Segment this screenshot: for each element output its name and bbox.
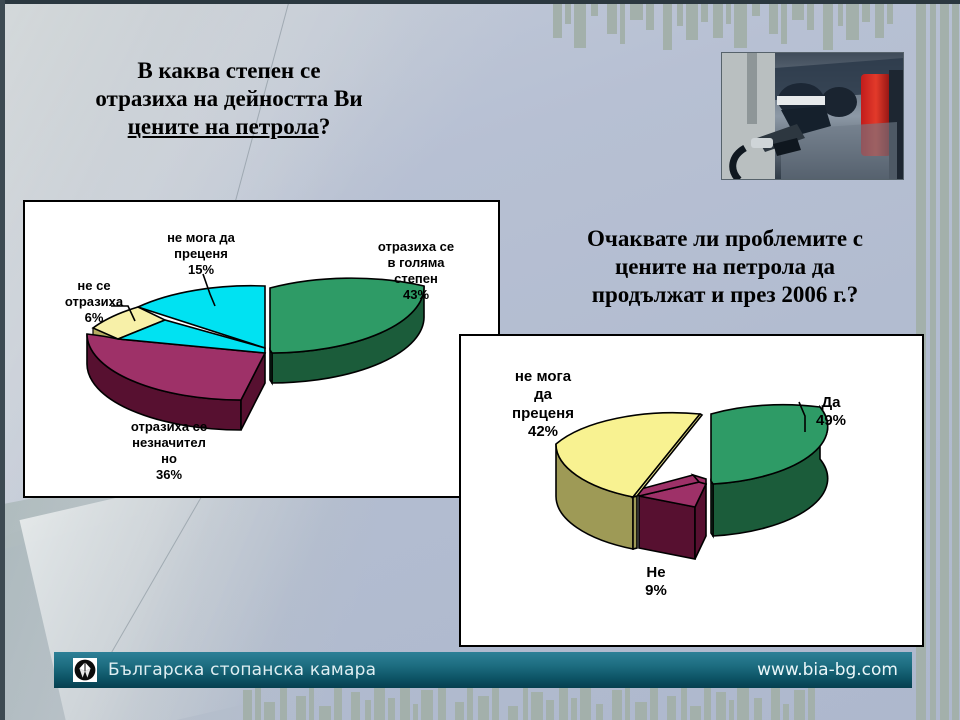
decorative-bar	[365, 700, 371, 720]
chart-2-label-2: не мога да преценя 42%	[491, 368, 595, 442]
decorative-bar	[690, 706, 701, 720]
decorative-bar	[280, 684, 287, 720]
decorative-bar	[713, 0, 723, 38]
decorative-bar	[296, 696, 306, 720]
decorative-bar	[635, 702, 647, 720]
decorative-bar	[794, 690, 805, 720]
decorative-bar	[508, 706, 518, 720]
question-1-line-1: В каква степен се	[34, 57, 424, 85]
slide-top-border	[0, 0, 960, 4]
decorative-bar	[771, 686, 780, 720]
decorative-bar	[400, 686, 410, 720]
top-decorative-bars	[548, 0, 960, 46]
footer-website-url[interactable]: www.bia-bg.com	[757, 660, 898, 680]
chart-1-label-2: не мога да преценя 15%	[145, 230, 257, 278]
decorative-bar	[846, 0, 859, 40]
question-1-line-2: отразиха на дейността Ви	[34, 85, 424, 113]
decorative-bar	[612, 690, 622, 720]
decorative-bar	[580, 686, 591, 720]
pie-chart-2[interactable]: Да 49% Не 9% не мога да преценя 42%	[459, 334, 924, 647]
decorative-bar	[571, 698, 577, 720]
bia-diamond-emblem	[74, 659, 96, 681]
edge-stripe	[930, 0, 936, 720]
decorative-bar	[754, 698, 762, 720]
decorative-bar	[596, 704, 603, 720]
chart-1-label-3: не се отразиха 6%	[51, 278, 137, 326]
decorative-bar	[783, 704, 789, 720]
edge-stripe	[952, 0, 959, 720]
bia-logo-icon	[73, 658, 97, 682]
decorative-bar	[546, 700, 554, 720]
question-1-underlined: цените на петрола	[128, 114, 319, 139]
question-2-line-3: продължат и през 2006 г.?	[520, 281, 930, 309]
chart-1-label-1: отразиха се незначител но 36%	[111, 419, 227, 483]
decorative-bar	[686, 0, 698, 40]
decorative-bar	[388, 698, 395, 720]
decorative-bar	[646, 0, 654, 30]
decorative-bar	[455, 702, 464, 720]
chart-1-label-0: отразиха се в голяма степен 43%	[361, 239, 471, 303]
decorative-bar	[667, 696, 676, 720]
question-1-line-3: цените на петрола?	[34, 113, 424, 141]
decorative-bar	[607, 0, 617, 34]
question-1-qmark: ?	[319, 114, 331, 139]
decorative-bar	[781, 0, 787, 44]
decorative-bar	[734, 0, 747, 48]
decorative-bar	[467, 684, 473, 720]
decorative-bar	[769, 0, 778, 34]
decorative-bar	[243, 690, 252, 720]
footer-bar: Българска стопанска камара www.bia-bg.co…	[54, 652, 912, 688]
slide-canvas: В каква степен се отразиха на дейността …	[0, 0, 960, 720]
decorative-bar	[716, 692, 726, 720]
decorative-bar	[531, 692, 543, 720]
question-2-line-1: Очаквате ли проблемите с	[520, 225, 930, 253]
slide-left-border	[0, 0, 5, 720]
fuel-pump-photo	[721, 52, 904, 180]
decorative-bar	[823, 0, 833, 50]
decorative-bar	[553, 0, 562, 38]
decorative-bar	[663, 0, 672, 50]
decorative-bar	[413, 704, 418, 720]
chart-2-label-0: Да 49%	[791, 394, 871, 431]
chart-2-label-1: Не 9%	[616, 564, 696, 601]
decorative-bar	[620, 0, 625, 44]
question-2-title: Очаквате ли проблемите с цените на петро…	[520, 225, 930, 309]
decorative-bar	[319, 706, 331, 720]
decorative-bar	[478, 696, 489, 720]
decorative-bar	[875, 0, 884, 38]
decorative-bar	[264, 702, 275, 720]
decorative-bar	[650, 684, 658, 720]
fuel-pump-illustration	[721, 52, 904, 180]
footer-organization-name: Българска стопанска камара	[108, 660, 376, 680]
decorative-bar	[351, 692, 360, 720]
question-1-title: В каква степен се отразиха на дейността …	[34, 57, 424, 141]
question-2-line-2: цените на петрола да	[520, 253, 930, 281]
pie-chart-1[interactable]: отразиха се в голяма степен 43% отразиха…	[23, 200, 500, 498]
decorative-bar	[574, 0, 586, 48]
edge-stripe	[940, 0, 949, 720]
decorative-bar	[729, 700, 734, 720]
decorative-bar	[421, 690, 433, 720]
decorative-bar	[807, 0, 814, 30]
